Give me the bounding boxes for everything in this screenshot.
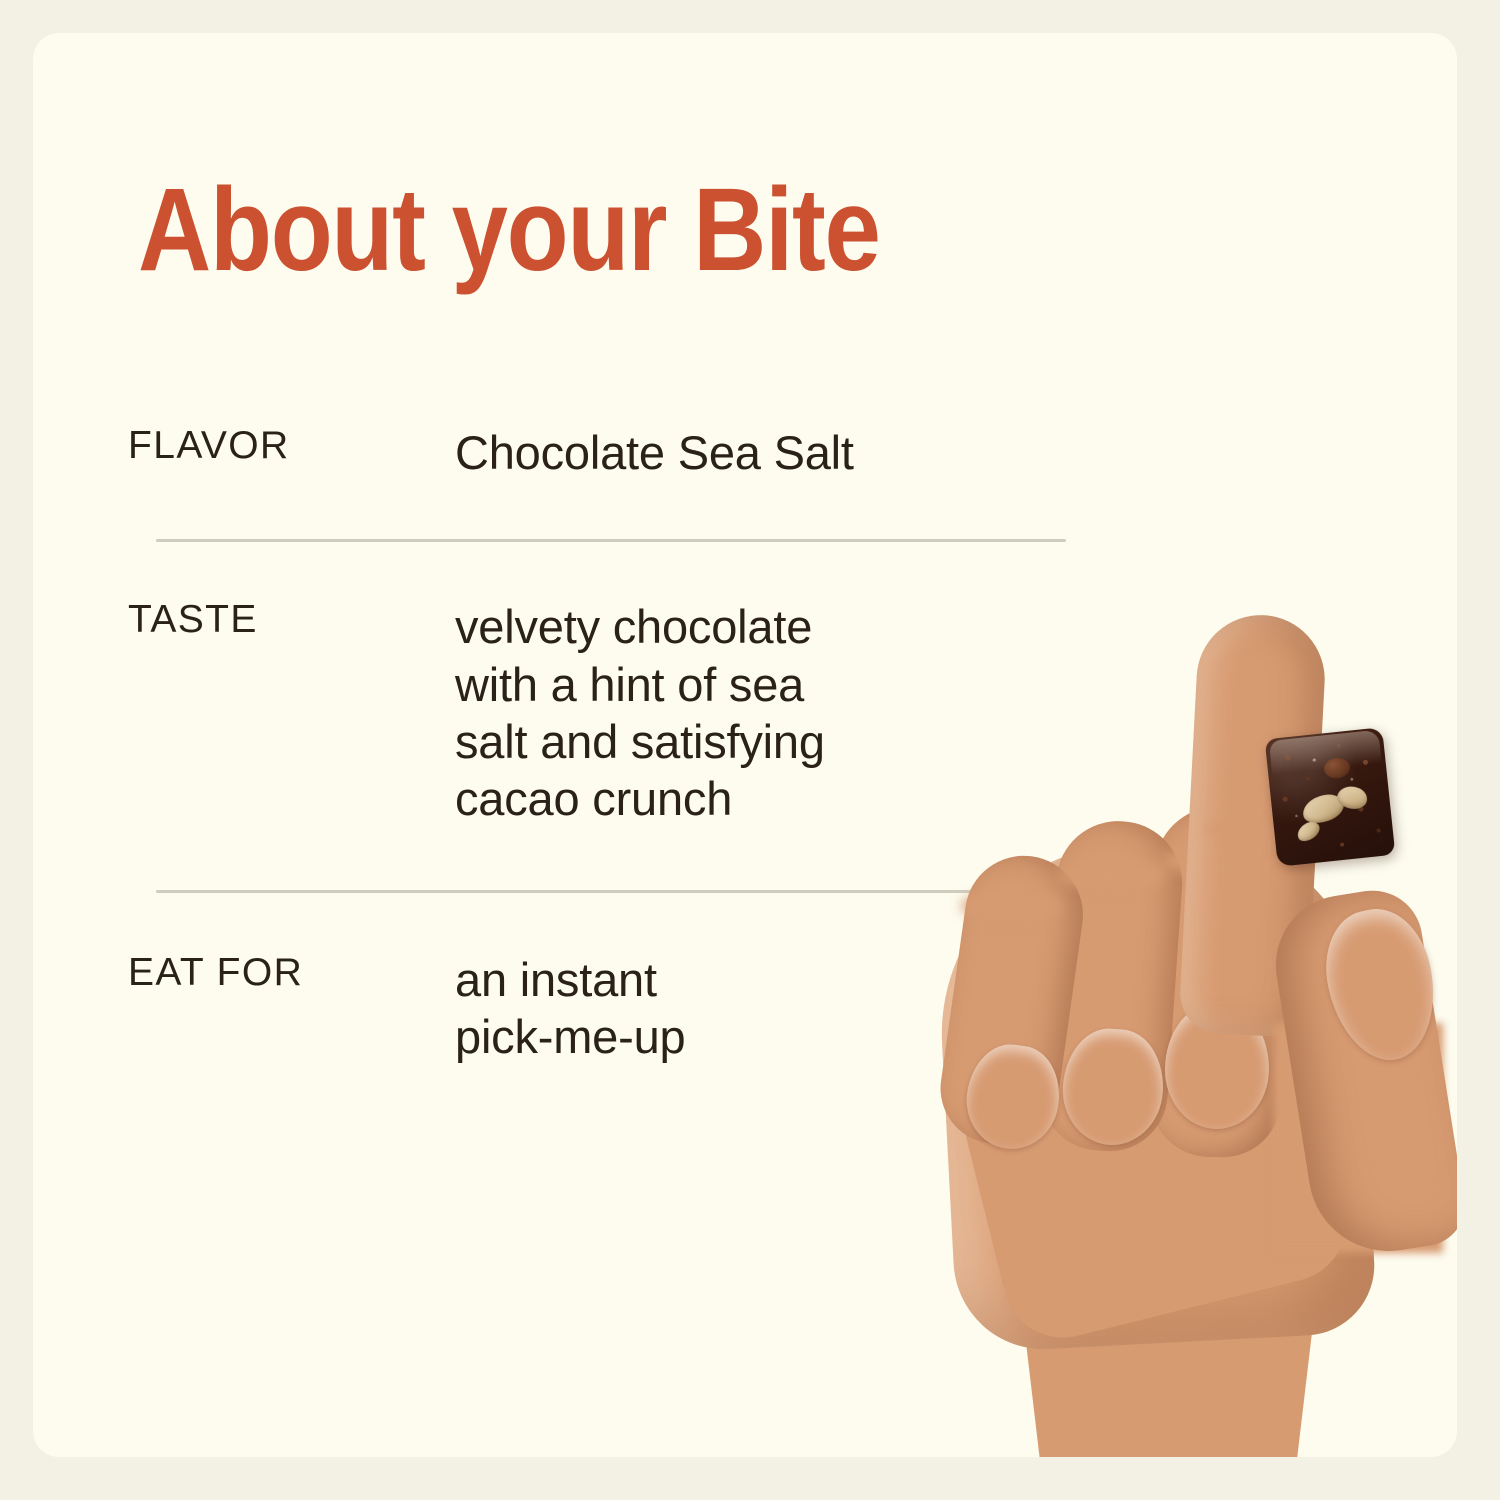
- spec-value-eat-for-line-2: pick-me-up: [455, 1008, 685, 1065]
- spec-label-flavor: FLAVOR: [128, 424, 455, 468]
- spec-value-taste-line-1: velvety chocolate: [455, 598, 825, 655]
- spec-value-eat-for-line-1: an instant: [455, 951, 685, 1008]
- product-card-frame: About your Bite FLAVOR Chocolate Sea Sal…: [0, 0, 1500, 1500]
- chocolate-bite-body: [1265, 727, 1396, 867]
- spec-value-taste-line-4: cacao crunch: [455, 770, 825, 827]
- spec-value-taste-line-3: salt and satisfying: [455, 713, 825, 770]
- chocolate-bite-image: [1265, 727, 1396, 867]
- spec-value-taste: velvety chocolate with a hint of sea sal…: [455, 598, 825, 827]
- page-title: About your Bite: [138, 171, 880, 289]
- spec-label-eat-for: EAT FOR: [128, 951, 455, 995]
- hand-holding-bite-image: [853, 593, 1457, 1457]
- spec-value-taste-line-2: with a hint of sea: [455, 656, 825, 713]
- knuckle-shade-1: [961, 893, 1061, 919]
- knuckle-shade-2: [1057, 861, 1165, 889]
- spec-value-flavor: Chocolate Sea Salt: [455, 424, 854, 481]
- spec-label-taste: TASTE: [128, 598, 455, 642]
- spec-divider-1: [156, 539, 1066, 542]
- product-card: About your Bite FLAVOR Chocolate Sea Sal…: [33, 33, 1457, 1457]
- spec-row-flavor: FLAVOR Chocolate Sea Salt: [128, 418, 1048, 481]
- spec-value-flavor-line-1: Chocolate Sea Salt: [455, 424, 854, 481]
- spec-value-eat-for: an instant pick-me-up: [455, 951, 685, 1066]
